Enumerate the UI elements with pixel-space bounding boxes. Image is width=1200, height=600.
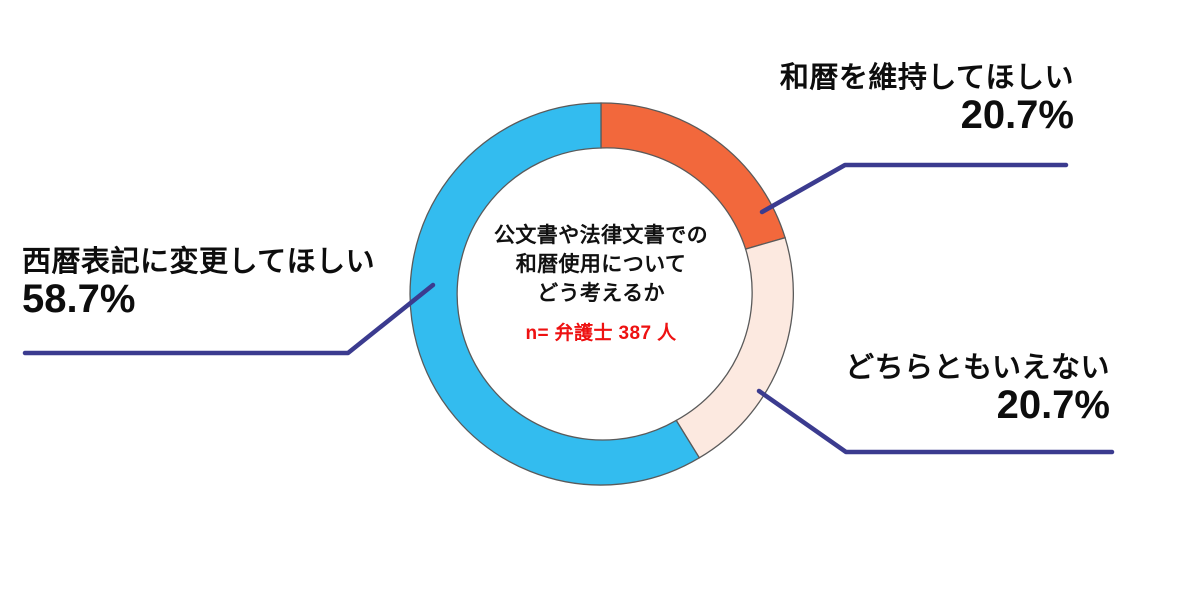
chart-canvas: 和暦を維持してほしい 20.7% 西暦表記に変更してほしい 58.7% どちらと… bbox=[0, 0, 1200, 600]
center-text-line-1: 公文書や法律文書での bbox=[446, 222, 756, 251]
callout-label-change-percent: 58.7% bbox=[22, 278, 422, 321]
callout-label-keep-title: 和暦を維持してほしい bbox=[744, 62, 1074, 94]
leader-line-keep bbox=[762, 165, 1066, 212]
callout-label-keep-percent: 20.7% bbox=[744, 94, 1074, 137]
donut-center-text: 公文書や法律文書での 和暦使用について どう考えるか n= 弁護士 387 人 bbox=[446, 222, 756, 345]
callout-label-change-title: 西暦表記に変更してほしい bbox=[22, 246, 422, 278]
callout-label-neither-title: どちらともいえない bbox=[778, 352, 1110, 384]
callout-label-neither: どちらともいえない 20.7% bbox=[778, 352, 1110, 428]
sample-size-note: n= 弁護士 387 人 bbox=[446, 318, 756, 345]
center-text-line-3: どう考えるか bbox=[446, 280, 756, 309]
callout-label-neither-percent: 20.7% bbox=[778, 384, 1110, 427]
center-text-line-2: 和暦使用について bbox=[446, 251, 756, 280]
callout-label-keep: 和暦を維持してほしい 20.7% bbox=[744, 62, 1074, 138]
callout-label-change: 西暦表記に変更してほしい 58.7% bbox=[22, 246, 422, 322]
